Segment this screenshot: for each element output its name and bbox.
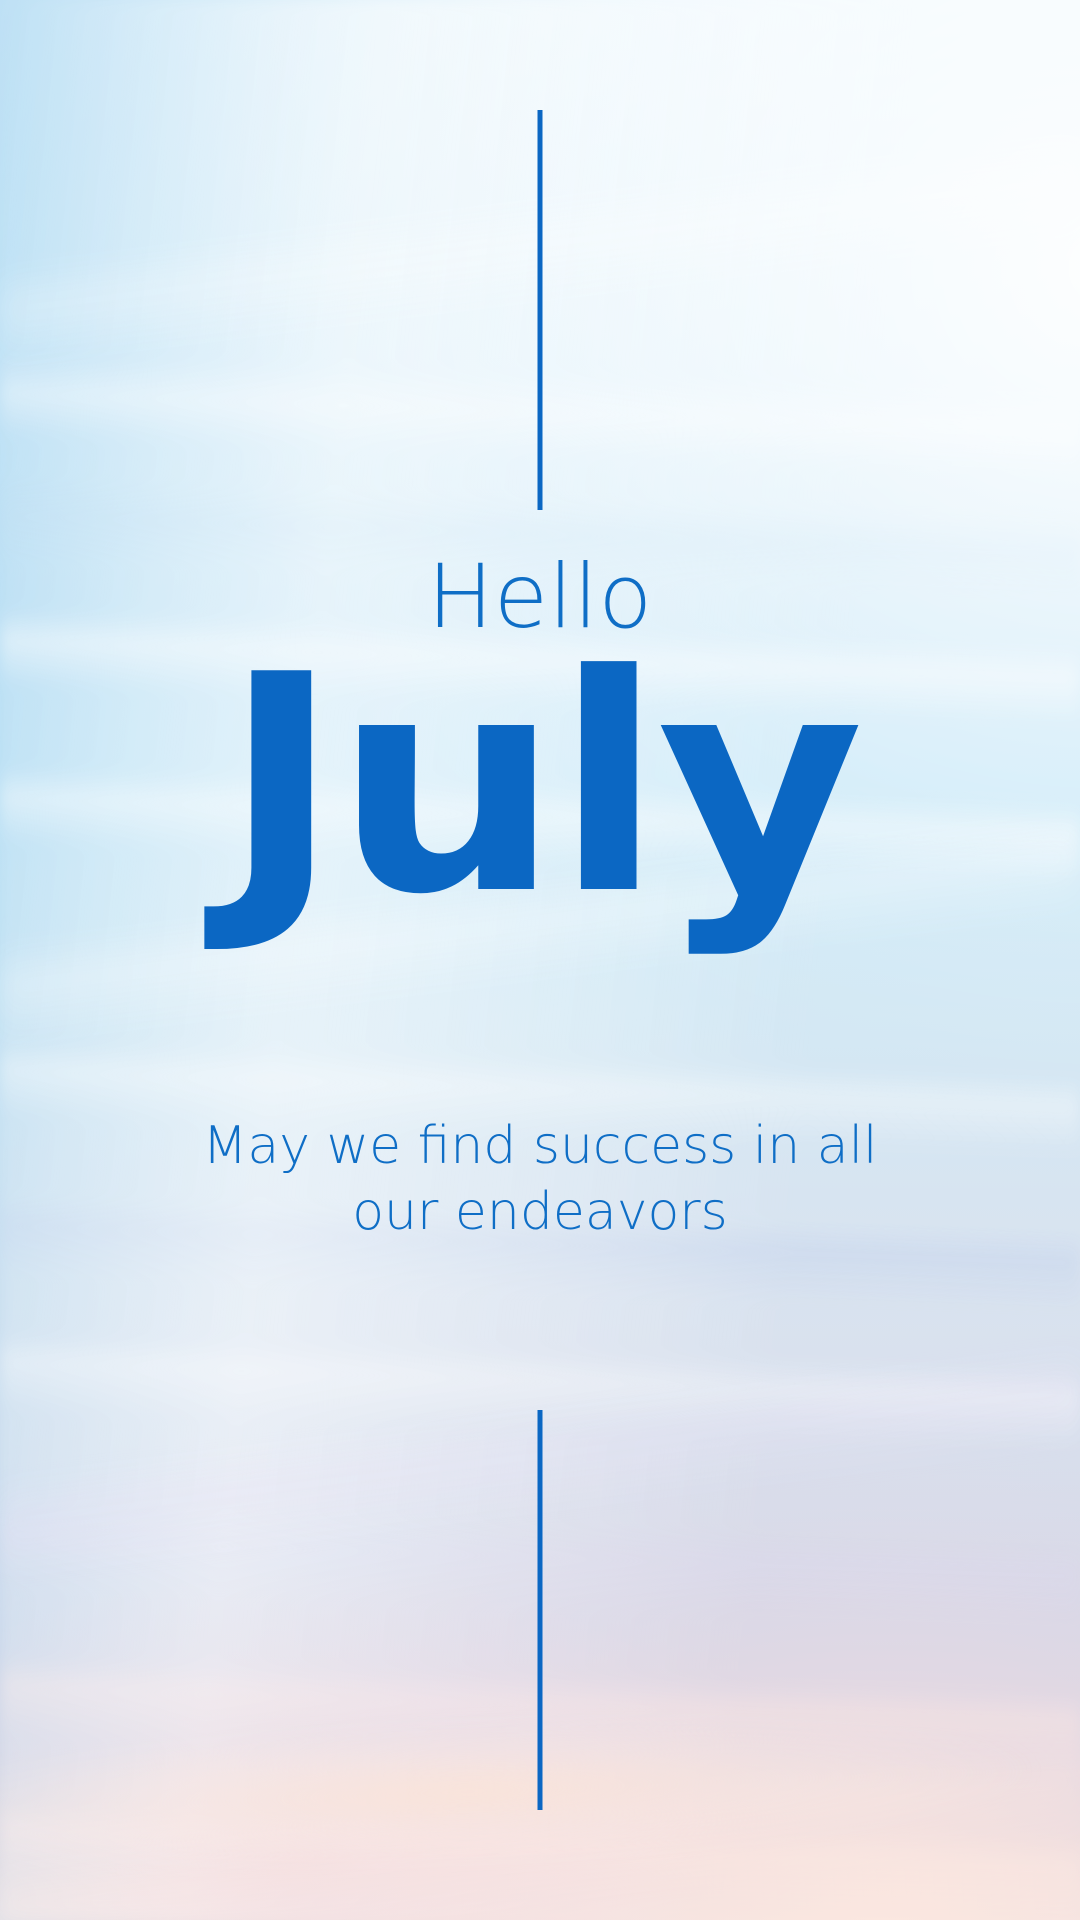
tagline-line-2: our endeavors — [0, 1186, 1080, 1238]
poster-canvas: Hello July May we find success in all ou… — [0, 0, 1080, 1920]
tagline-line-1: May we find success in all — [0, 1120, 1080, 1172]
month-headline: July — [0, 636, 1080, 936]
vertical-rule-bottom — [538, 1410, 543, 1810]
vertical-rule-top — [538, 110, 543, 510]
tagline: May we find success in all our endeavors — [0, 1120, 1080, 1238]
